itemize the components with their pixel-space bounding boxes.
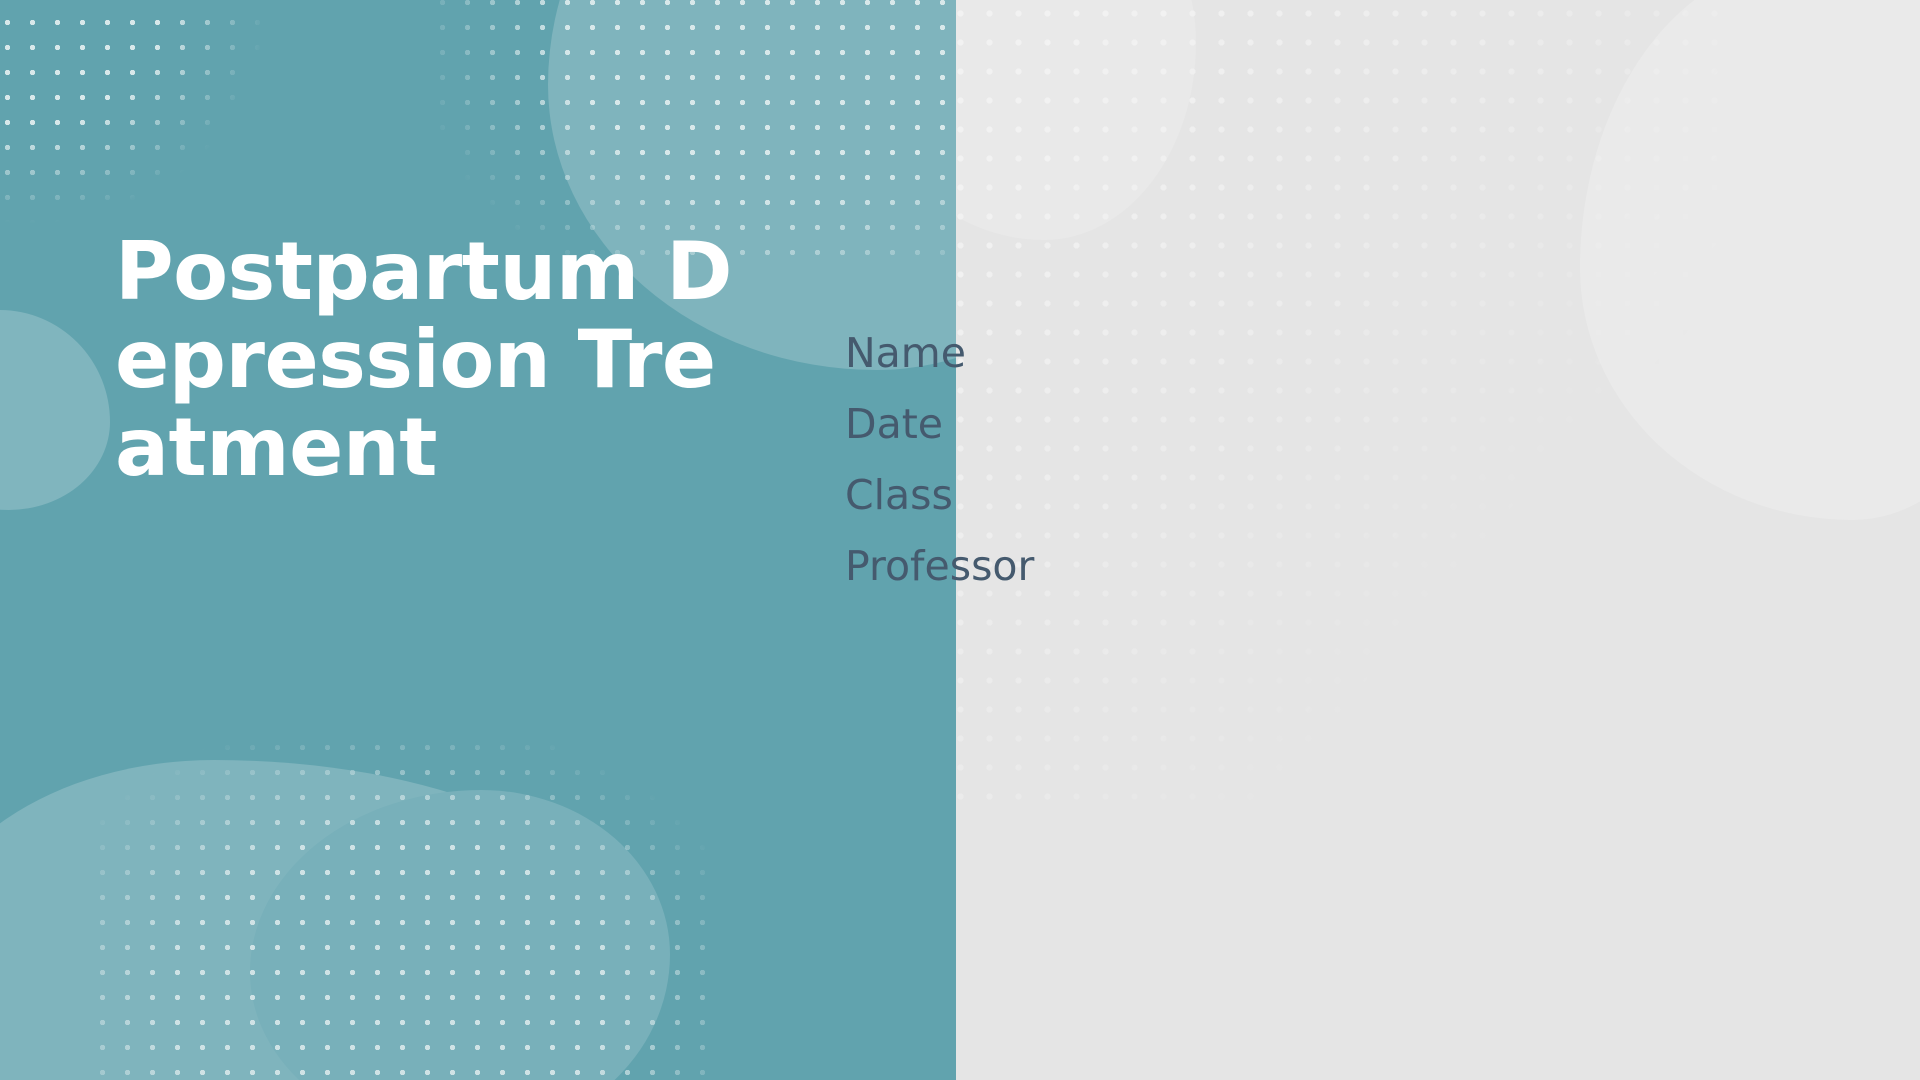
meta-item-date: Date (845, 389, 1034, 460)
dot-cluster-bottom-left-decor (90, 735, 710, 1080)
blob-bottom-left-decor (0, 760, 620, 1080)
dot-field-right-panel-decor (956, 0, 1726, 820)
right-grey-panel (956, 0, 1920, 1080)
blob-right-top-left-decor (956, 0, 1196, 240)
blob-left-middle-decor (0, 310, 110, 510)
slide-title: Postpartum Depression Treatment (115, 228, 733, 492)
meta-item-professor: Professor (845, 531, 1034, 602)
blob-bottom-center-decor (250, 790, 670, 1080)
meta-item-class: Class (845, 460, 1034, 531)
slide-meta-list: Name Date Class Professor (845, 318, 1034, 602)
left-teal-panel (0, 0, 956, 1080)
meta-item-name: Name (845, 318, 1034, 389)
blob-right-edge-decor (1580, 0, 1920, 520)
title-slide: Postpartum Depression Treatment Name Dat… (0, 0, 1920, 1080)
